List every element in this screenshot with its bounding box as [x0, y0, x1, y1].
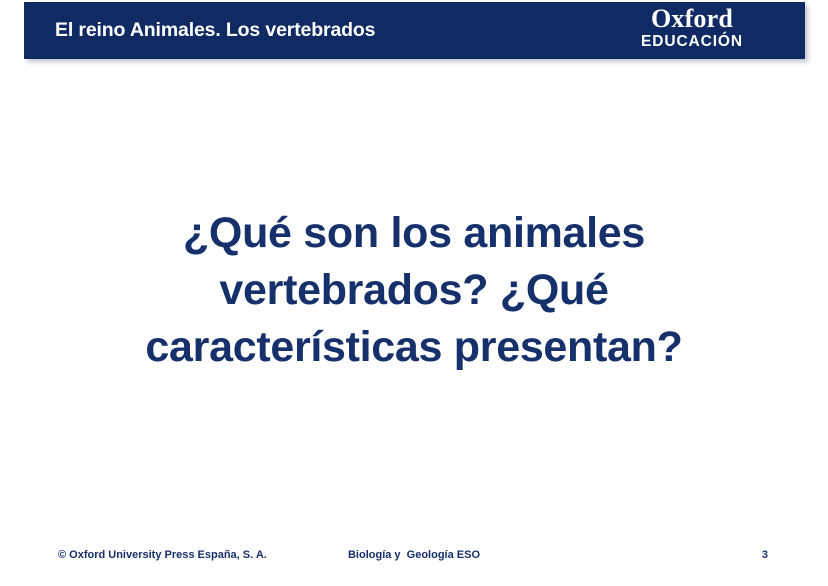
header-bar: El reino Animales. Los vertebrados Oxfor… — [24, 2, 805, 59]
header-title: El reino Animales. Los vertebrados — [55, 2, 375, 59]
page-title-line-3: características presentan? — [80, 319, 748, 376]
page-title-line-1: ¿Qué son los animales — [80, 205, 748, 262]
educacion-subtitle: EDUCACIÓN — [617, 32, 767, 51]
footer-page-number: 3 — [762, 549, 768, 561]
oxford-educacion-logo: Oxford EDUCACIÓN — [617, 5, 767, 56]
page-title: ¿Qué son los animales vertebrados? ¿Qué … — [80, 205, 748, 376]
slide-footer: © Oxford University Press España, S. A. … — [0, 549, 828, 569]
footer-subject: Biología y Geología ESO — [0, 549, 828, 561]
page-title-line-2: vertebrados? ¿Qué — [80, 262, 748, 319]
slide-canvas: El reino Animales. Los vertebrados Oxfor… — [0, 0, 828, 586]
oxford-wordmark: Oxford — [617, 5, 767, 32]
